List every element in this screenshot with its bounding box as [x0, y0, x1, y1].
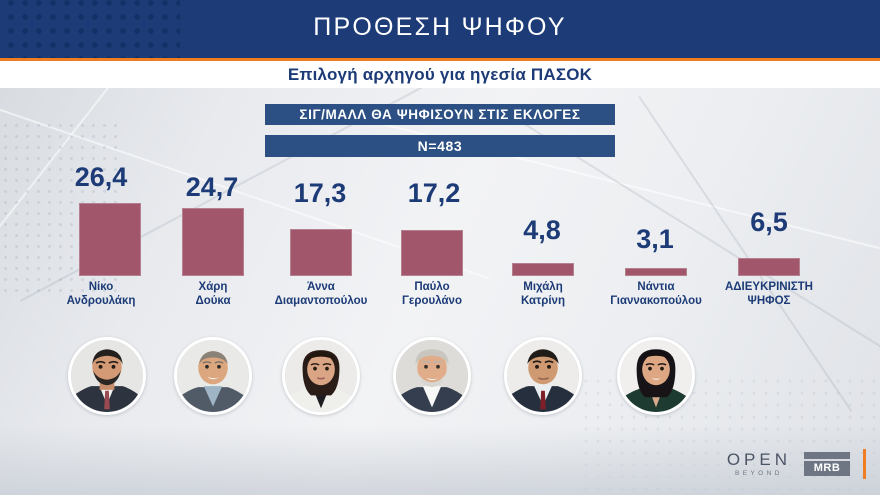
bar-category-line2: Γιαννακοπούλου — [610, 295, 702, 307]
candidate-photo — [393, 337, 471, 415]
bar-category-line1: Νάντια — [637, 281, 674, 293]
bar-value-label: 6,5 — [714, 207, 824, 238]
bar-rect[interactable] — [79, 203, 141, 276]
candidate-photo — [282, 337, 360, 415]
bar-value-label: 17,3 — [265, 178, 375, 209]
bar-rect[interactable] — [290, 229, 352, 276]
mrb-logo-bar — [804, 452, 850, 459]
candidate-photo — [174, 337, 252, 415]
candidate-portrait-geroulanos — [396, 340, 468, 412]
bar-value-label: 3,1 — [600, 224, 710, 255]
poll-graphic: ΠΡΟΘΕΣΗ ΨΗΦΟΥ Επιλογή αρχηγού για ηγεσία… — [0, 0, 880, 495]
bar-category-line2: Δούκα — [195, 295, 230, 307]
bar-category-line1: Νίκο — [89, 281, 114, 293]
bar-category-label: Νίκο Ανδρουλάκη — [36, 281, 166, 308]
bar-category-label: Μιχάλη Κατρίνη — [478, 281, 608, 308]
orange-accent-tick — [863, 449, 866, 479]
candidate-portrait-diamantopoulou — [285, 340, 357, 412]
bar-category-line2: Ανδρουλάκη — [67, 295, 136, 307]
bar-value-label: 24,7 — [157, 172, 267, 203]
bar-rect[interactable] — [512, 263, 574, 276]
mrb-logo-text: MRB — [804, 461, 850, 476]
bar-chart: 26,4 Νίκο Ανδρουλάκη — [0, 0, 880, 495]
footer-logos: OPEN BEYOND MRB — [727, 449, 866, 479]
candidate-portrait-androulakis — [71, 340, 143, 412]
bar-category-line1: Παύλο — [414, 281, 449, 293]
candidate-photo — [617, 337, 695, 415]
open-logo-text: OPEN — [727, 451, 791, 468]
bar-value-label: 26,4 — [46, 162, 156, 193]
bar-category-line2: ΨΗΦΟΣ — [748, 295, 791, 307]
bar-category-line1: Χάρη — [199, 281, 228, 293]
candidate-photo — [68, 337, 146, 415]
bar-value-label: 17,2 — [379, 178, 489, 209]
bar-rect[interactable] — [738, 258, 800, 276]
candidate-portrait-katrinis — [507, 340, 579, 412]
bar-rect[interactable] — [625, 268, 687, 276]
bar-category-line1: ΑΔΙΕΥΚΡΙΝΙΣΤΗ — [725, 281, 813, 293]
open-beyond-logo: OPEN BEYOND — [727, 451, 791, 478]
bar-category-label: Νάντια Γιαννακοπούλου — [591, 281, 721, 308]
candidate-photo — [504, 337, 582, 415]
bar-category-line2: Κατρίνη — [521, 295, 565, 307]
mrb-logo: MRB — [804, 452, 850, 476]
bar-category-line2: Γερουλάνο — [402, 295, 462, 307]
bar-category-label: ΑΔΙΕΥΚΡΙΝΙΣΤΗ ΨΗΦΟΣ — [704, 281, 834, 308]
bar-category-line2: Διαμαντοπούλου — [275, 295, 368, 307]
bar-value-label: 4,8 — [487, 215, 597, 246]
candidate-portrait-doukas — [177, 340, 249, 412]
bar-category-line1: Μιχάλη — [523, 281, 562, 293]
bar-category-line1: Άννα — [307, 281, 335, 293]
candidate-portrait-giannakopoulou — [620, 340, 692, 412]
beyond-logo-text: BEYOND — [735, 471, 783, 478]
bar-rect[interactable] — [401, 230, 463, 276]
bar-rect[interactable] — [182, 208, 244, 276]
